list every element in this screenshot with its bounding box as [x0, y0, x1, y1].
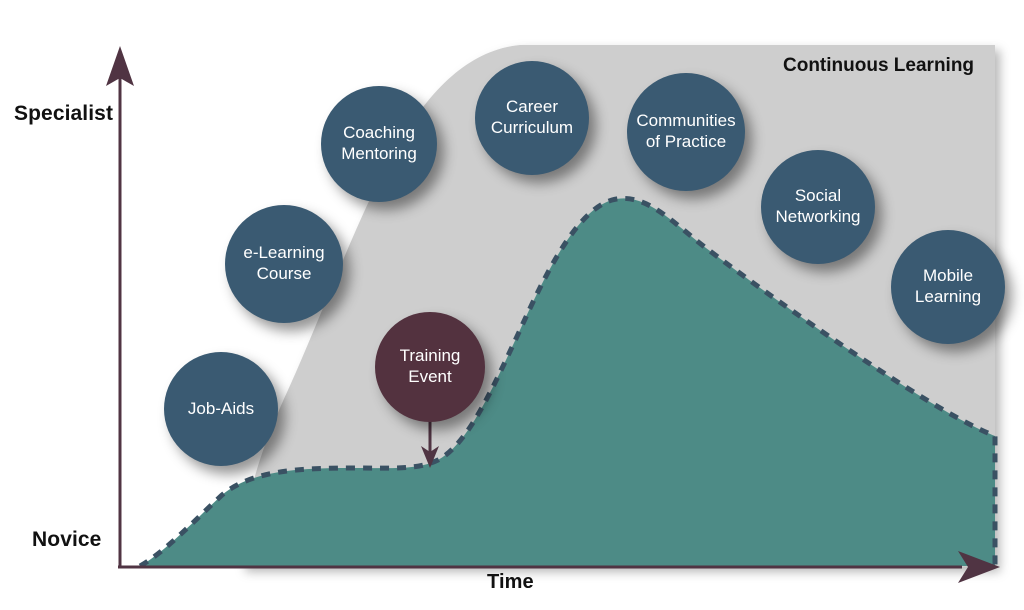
- node-label-line: Mentoring: [341, 144, 417, 165]
- y-axis-bottom-label: Novice: [32, 528, 101, 552]
- node-label-line: Mobile: [923, 266, 973, 287]
- node-label-line: of Practice: [646, 132, 726, 153]
- node-label-line: Event: [408, 367, 451, 388]
- node-career-curriculum[interactable]: CareerCurriculum: [475, 61, 589, 175]
- node-label-line: Training: [400, 346, 461, 367]
- node-label-line: Coaching: [343, 123, 415, 144]
- node-label-line: Course: [257, 264, 312, 285]
- node-label-line: Job-Aids: [188, 399, 254, 420]
- y-axis-top-label: Specialist: [14, 102, 113, 126]
- node-mobile-learning[interactable]: MobileLearning: [891, 230, 1005, 344]
- diagram-canvas: Specialist Novice Time Continuous Learni…: [0, 0, 1024, 610]
- node-communities-of-practice[interactable]: Communitiesof Practice: [627, 73, 745, 191]
- node-label-line: e-Learning: [243, 243, 324, 264]
- x-axis-label: Time: [487, 571, 534, 594]
- node-label-line: Networking: [775, 207, 860, 228]
- node-label-line: Learning: [915, 287, 981, 308]
- node-social-networking[interactable]: SocialNetworking: [761, 150, 875, 264]
- continuous-learning-label: Continuous Learning: [783, 55, 974, 77]
- node-e-learning-course[interactable]: e-LearningCourse: [225, 205, 343, 323]
- node-label-line: Career: [506, 97, 558, 118]
- node-training-event[interactable]: TrainingEvent: [375, 312, 485, 422]
- node-coaching-mentoring[interactable]: CoachingMentoring: [321, 86, 437, 202]
- node-label-line: Communities: [636, 111, 735, 132]
- node-label-line: Social: [795, 186, 841, 207]
- node-label-line: Curriculum: [491, 118, 573, 139]
- node-job-aids[interactable]: Job-Aids: [164, 352, 278, 466]
